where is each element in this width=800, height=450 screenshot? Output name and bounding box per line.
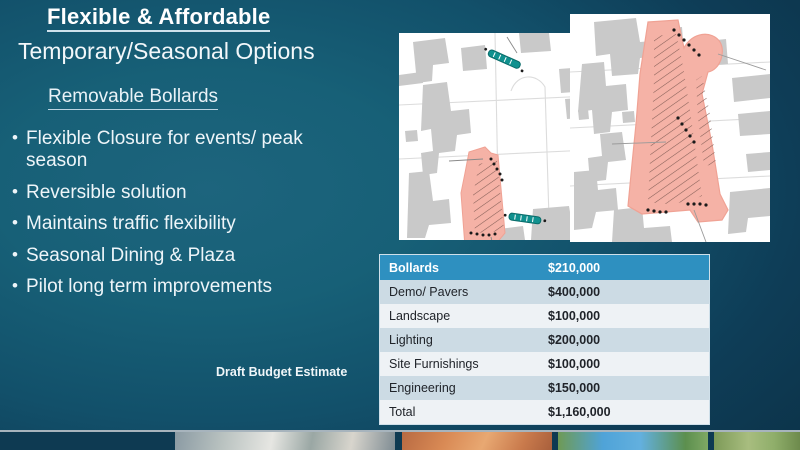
budget-table: Bollards $210,000 Demo/ Pavers $400,000 … (379, 254, 710, 425)
table-cell-item: Lighting (380, 333, 540, 347)
table-cell-item: Total (380, 405, 540, 419)
table-cell-item: Bollards (380, 261, 540, 275)
site-plan-proposed-svg (570, 14, 770, 242)
table-row: Lighting $200,000 (380, 328, 709, 352)
table-cell-cost: $100,000 (540, 309, 709, 323)
photo-buildings (175, 432, 395, 450)
table-cell-cost: $400,000 (540, 285, 709, 299)
presentation-slide: Flexible & Affordable Temporary/Seasonal… (0, 0, 800, 450)
table-header-row: Bollards $210,000 (380, 255, 709, 280)
table-cell-cost: $1,160,000 (540, 405, 709, 419)
table-cell-cost: $200,000 (540, 333, 709, 347)
table-row: Engineering $150,000 (380, 376, 709, 400)
table-cell-item: Site Furnishings (380, 357, 540, 371)
table-row: Site Furnishings $100,000 (380, 352, 709, 376)
strip-spacer-left (0, 432, 175, 450)
strip-divider (395, 432, 402, 450)
table-cell-item: Landscape (380, 309, 540, 323)
table-row: Demo/ Pavers $400,000 (380, 280, 709, 304)
table-cell-cost: $100,000 (540, 357, 709, 371)
photo-trees-sky (558, 432, 708, 450)
table-row: Landscape $100,000 (380, 304, 709, 328)
photo-foliage (714, 432, 800, 450)
table-cell-cost: $210,000 (540, 261, 709, 275)
table-cell-item: Demo/ Pavers (380, 285, 540, 299)
table-cell-cost: $150,000 (540, 381, 709, 395)
photo-strip (0, 430, 800, 450)
plaza-area (461, 147, 505, 240)
site-plan-proposed (570, 14, 770, 242)
table-cell-item: Engineering (380, 381, 540, 395)
photo-roof-tiles (402, 432, 552, 450)
table-row-total: Total $1,160,000 (380, 400, 709, 424)
